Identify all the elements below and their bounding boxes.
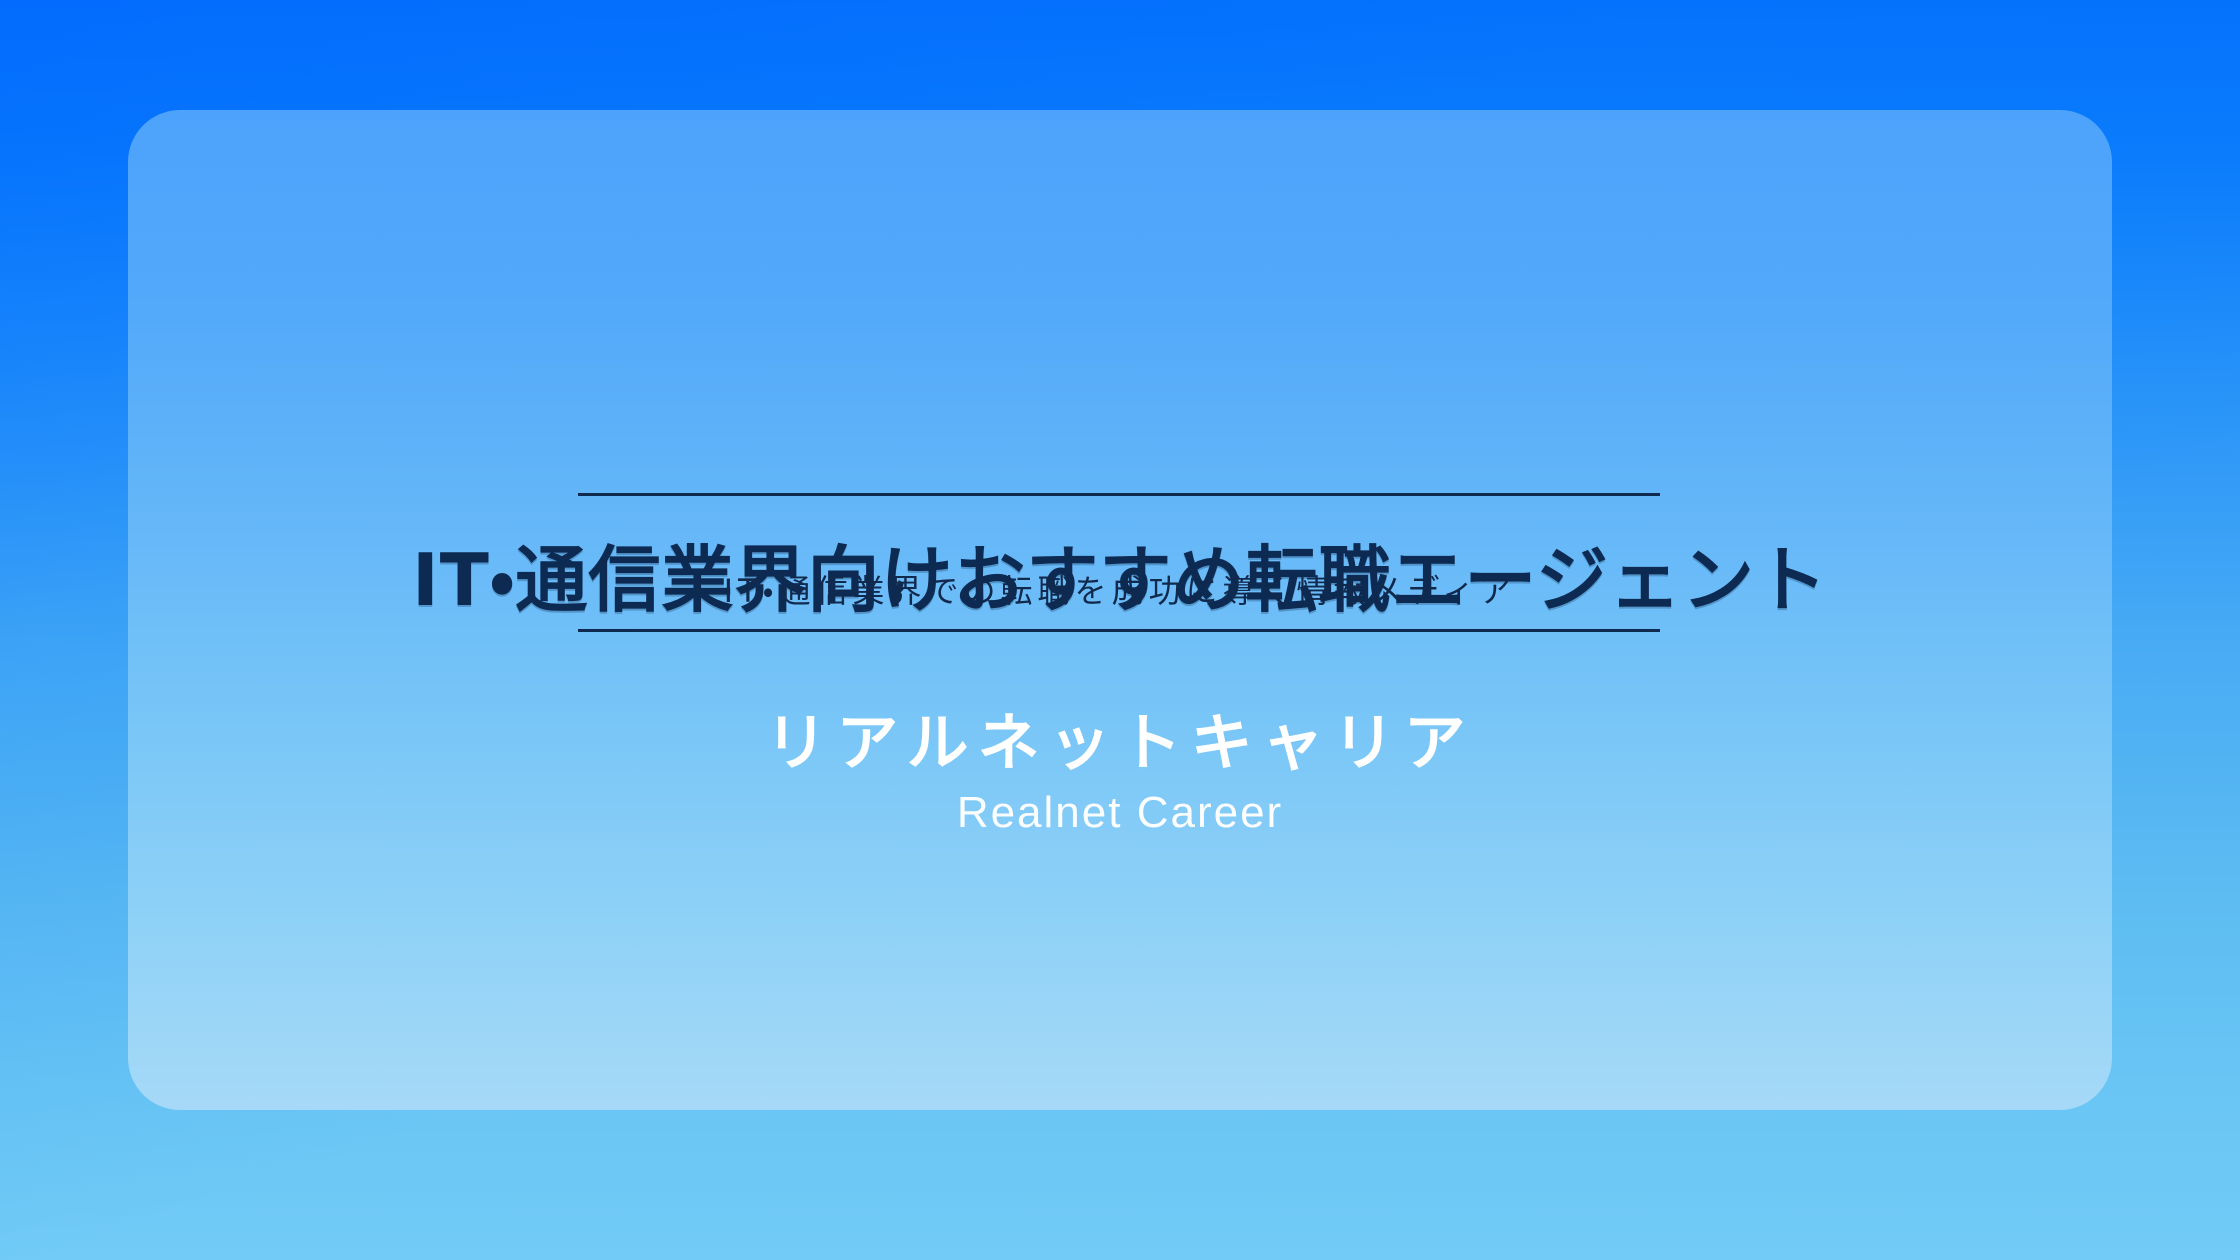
- hero-card-content: IT・通信業界向けおすすめ転職エージェント IT・通信業界での転職を成功に導く情…: [128, 110, 2112, 1110]
- page-subtitle: IT・通信業界での転職を成功に導く情報メディア: [128, 566, 2112, 612]
- hero-card: IT・通信業界向けおすすめ転職エージェント IT・通信業界での転職を成功に導く情…: [128, 110, 2112, 1110]
- hero-banner: IT・通信業界向けおすすめ転職エージェント IT・通信業界での転職を成功に導く情…: [0, 0, 2240, 1260]
- divider-bottom: [578, 629, 1660, 632]
- brand-name-english: Realnet Career: [128, 788, 2112, 838]
- brand-name-japanese: リアルネットキャリア: [128, 692, 2112, 782]
- divider-top: [578, 493, 1660, 496]
